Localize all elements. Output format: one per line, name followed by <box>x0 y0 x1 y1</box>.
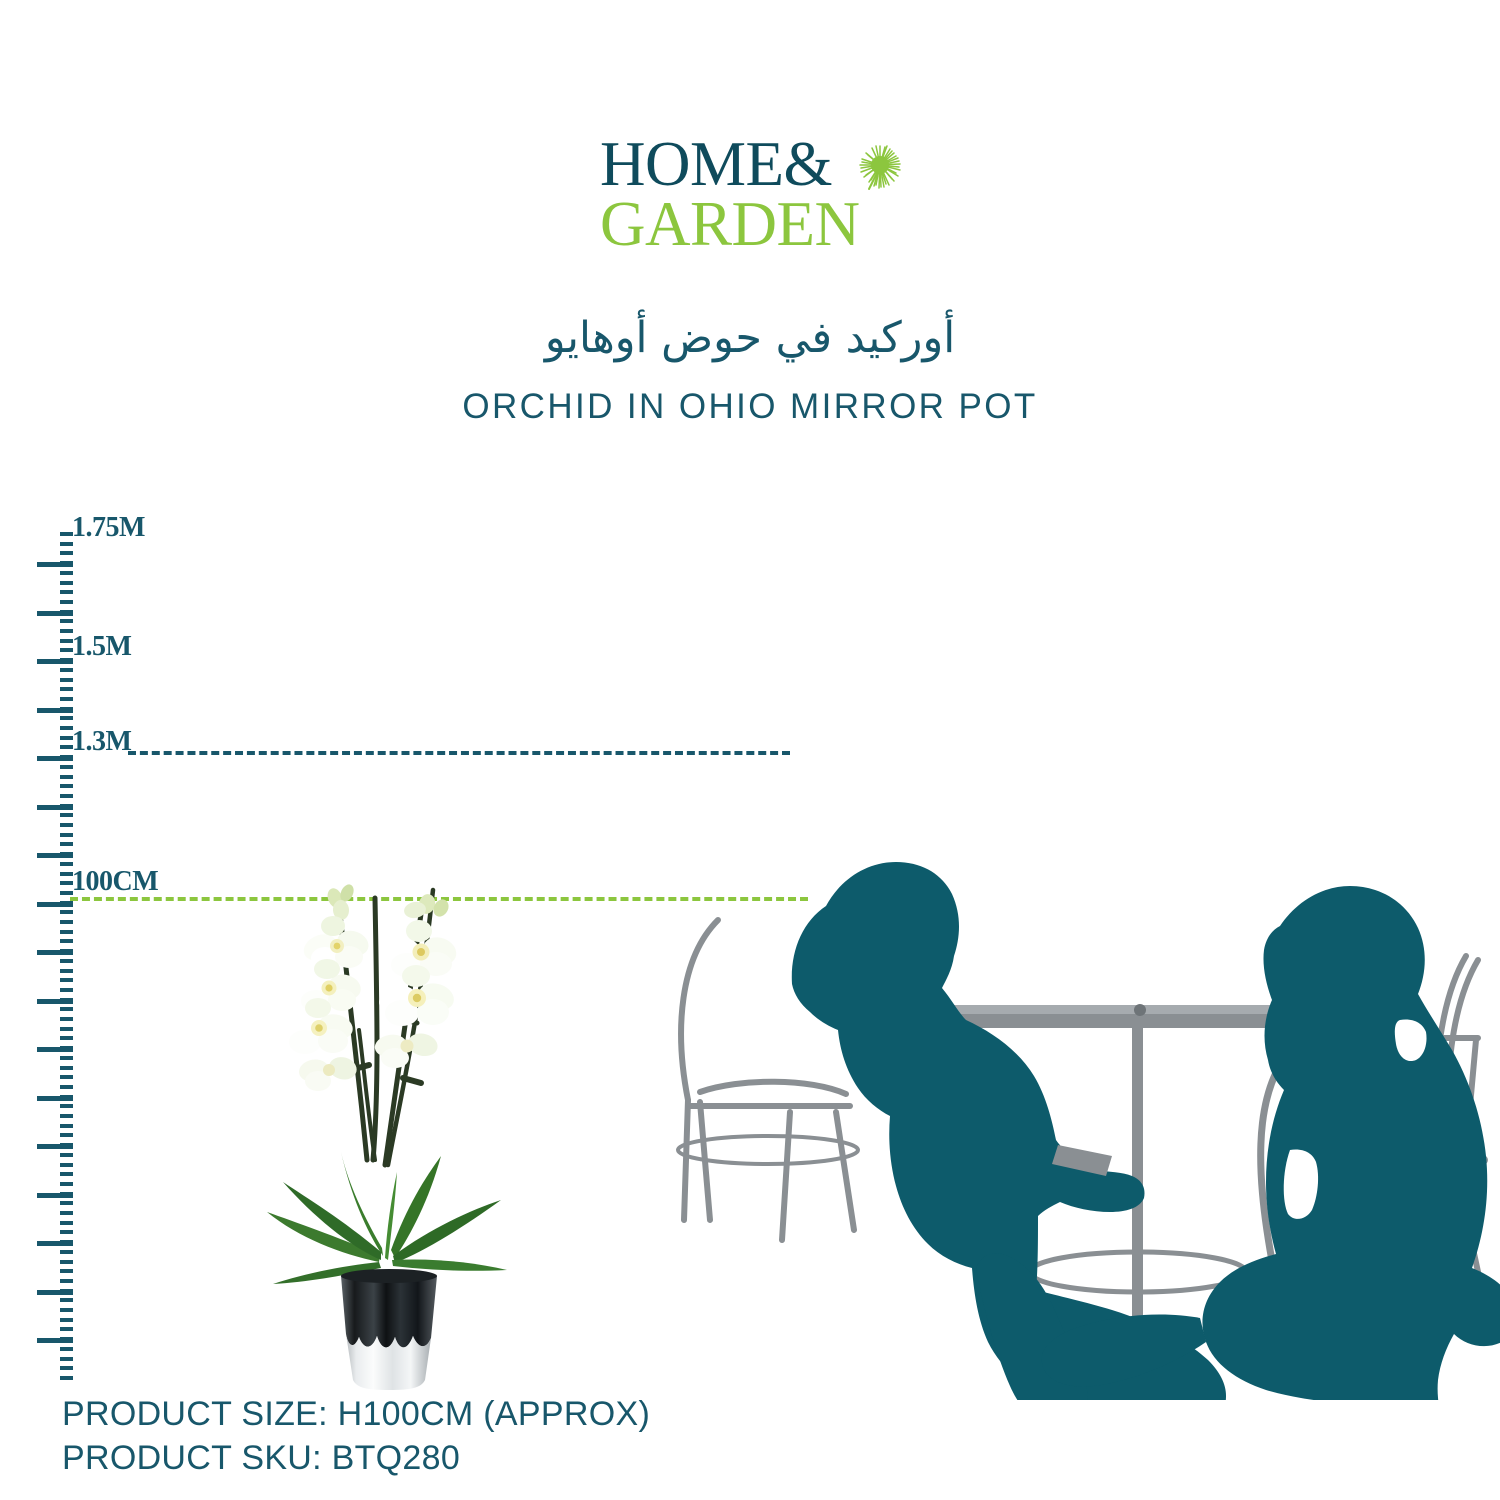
ruler-tick-minor <box>60 590 73 594</box>
product-title-english: ORCHID IN OHIO MIRROR POT <box>0 387 1500 427</box>
logo-text-garden: GARDEN <box>600 193 860 256</box>
product-details: PRODUCT SIZE: H100CM (APPROX) PRODUCT SK… <box>62 1392 962 1480</box>
ruler-tick-minor <box>60 1347 73 1351</box>
ruler-tick-minor <box>60 978 73 982</box>
product-size-infographic: HOME& GARDEN <box>0 0 1500 1500</box>
ruler-label-100cm: 100CM <box>72 866 158 898</box>
ruler-tick-major <box>37 562 73 567</box>
ruler-tick-minor <box>60 1298 73 1302</box>
ruler-tick-major <box>37 708 73 713</box>
ruler-tick-major <box>37 1144 73 1149</box>
product-size-text: PRODUCT SIZE: H100CM (APPROX) <box>62 1392 962 1436</box>
ruler-tick-minor <box>60 813 73 817</box>
ruler-label-1-5m: 1.5M <box>72 631 131 663</box>
ruler-tick-minor <box>60 1007 73 1011</box>
ruler-tick-minor <box>60 551 73 555</box>
ruler-tick-minor <box>60 619 73 623</box>
ruler-tick-minor <box>60 959 73 963</box>
ruler-tick-minor <box>60 930 73 934</box>
ruler-tick-minor <box>60 1230 73 1234</box>
ruler-tick-minor <box>60 1221 73 1225</box>
ruler-tick-minor <box>60 939 73 943</box>
ruler-tick-major <box>37 805 73 810</box>
ruler-tick-minor <box>60 910 73 914</box>
height-ruler: 1.75M 1.5M 1.3M 100CM <box>0 0 180 1500</box>
person-right-silhouette <box>1202 886 1500 1400</box>
ruler-tick-minor <box>60 600 73 604</box>
ruler-tick-minor <box>60 1066 73 1070</box>
ruler-tick-minor <box>60 1085 73 1089</box>
ruler-tick-minor <box>60 1153 73 1157</box>
ruler-tick-minor <box>60 1056 73 1060</box>
ruler-tick-major <box>37 1193 73 1198</box>
ruler-tick-minor <box>60 1366 73 1370</box>
ruler-tick-minor <box>60 1201 73 1205</box>
ruler-tick-major <box>37 1290 73 1295</box>
ruler-tick-minor <box>60 1133 73 1137</box>
ruler-tick-minor <box>60 1172 73 1176</box>
ruler-tick-minor <box>60 687 73 691</box>
ruler-tick-minor <box>60 716 73 720</box>
ruler-tick-major <box>37 853 73 858</box>
ruler-tick-minor <box>60 697 73 701</box>
ruler-tick-major <box>37 1096 73 1101</box>
ruler-tick-major <box>37 1241 73 1246</box>
ruler-tick-minor <box>60 1327 73 1331</box>
mirror-pot <box>341 1269 437 1390</box>
ruler-tick-major <box>37 611 73 616</box>
ruler-tick-minor <box>60 1250 73 1254</box>
ruler-tick-minor <box>60 833 73 837</box>
ruler-tick-minor <box>60 1211 73 1215</box>
ruler-tick-major <box>37 950 73 955</box>
ruler-tick-minor <box>60 784 73 788</box>
ruler-tick-minor <box>60 1104 73 1108</box>
people-scale-scene <box>640 720 1500 1400</box>
ruler-tick-minor <box>60 1279 73 1283</box>
ruler-tick-minor <box>60 1308 73 1312</box>
ruler-tick-minor <box>60 1017 73 1021</box>
ruler-tick-minor <box>60 765 73 769</box>
ruler-tick-major <box>37 999 73 1004</box>
product-title-arabic: أوركيد في حوض أوهايو <box>0 313 1500 363</box>
ruler-tick-minor <box>60 794 73 798</box>
ruler-tick-minor <box>60 571 73 575</box>
ruler-tick-major <box>37 902 73 907</box>
ruler-tick-minor <box>60 581 73 585</box>
ruler-tick-major <box>37 756 73 761</box>
dandelion-burst-icon <box>856 143 904 191</box>
ruler-tick-minor <box>60 842 73 846</box>
ruler-tick-minor <box>60 1260 73 1264</box>
ruler-tick-minor <box>60 668 73 672</box>
ruler-tick-minor <box>60 1075 73 1079</box>
ruler-tick-minor <box>60 969 73 973</box>
ruler-tick-major <box>37 1338 73 1343</box>
ruler-tick-minor <box>60 775 73 779</box>
product-sku-text: PRODUCT SKU: BTQ280 <box>62 1436 962 1480</box>
ruler-tick-minor <box>60 678 73 682</box>
ruler-tick-minor <box>60 1182 73 1186</box>
brand-logo[interactable]: HOME& GARDEN <box>600 133 920 268</box>
ruler-tick-minor <box>60 1027 73 1031</box>
logo-text-home: HOME& <box>600 133 832 196</box>
ruler-tick-minor <box>60 1036 73 1040</box>
ruler-tick-major <box>37 659 73 664</box>
ruler-tick-minor <box>60 920 73 924</box>
orchid-leaves <box>267 1152 507 1284</box>
ruler-tick-minor <box>60 1376 73 1380</box>
ruler-tick-minor <box>60 1163 73 1167</box>
ruler-tick-minor <box>60 1114 73 1118</box>
ruler-tick-minor <box>60 988 73 992</box>
ruler-tick-minor <box>60 823 73 827</box>
ruler-label-1-75m: 1.75M <box>72 512 145 544</box>
ruler-label-1-3m: 1.3M <box>72 726 131 758</box>
ruler-tick-major <box>37 1047 73 1052</box>
ruler-tick-minor <box>60 1318 73 1322</box>
ruler-tick-minor <box>60 1357 73 1361</box>
ruler-tick-minor <box>60 1269 73 1273</box>
ruler-tick-minor <box>60 1124 73 1128</box>
orchid-plant-image <box>255 860 525 1390</box>
orchid-flowers-right <box>373 892 460 1068</box>
